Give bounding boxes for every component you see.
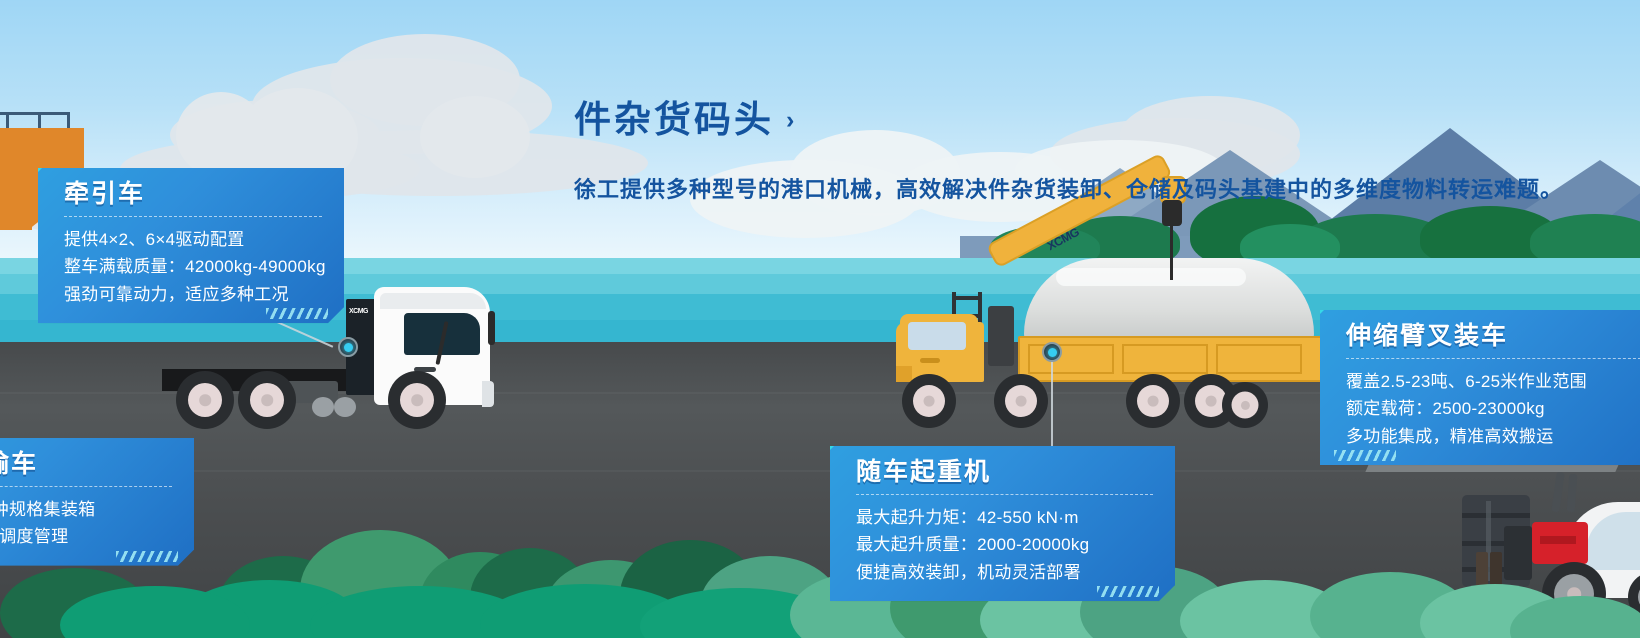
card-stripe-decoration — [1097, 586, 1159, 597]
card-title: 牵引车 — [64, 181, 322, 209]
xcmg-logo-tractor: XCMG — [349, 308, 368, 315]
card-line: 覆盖2.5-23吨、6-25米作业范围 — [1346, 368, 1640, 396]
info-card-telescopic-handler[interactable]: 伸缩臂叉装车 覆盖2.5-23吨、6-25米作业范围 额定载荷：2500-230… — [1320, 310, 1640, 465]
card-stripe-decoration — [1334, 450, 1396, 461]
card-line: 5尺等多种规格集装箱 — [0, 496, 172, 524]
card-divider — [64, 216, 322, 217]
card-line: 最大起升质量：2000-20000kg — [856, 531, 1153, 559]
card-line: 强劲可靠动力，适应多种工况 — [64, 281, 322, 309]
page-title-text: 件杂货码头 — [574, 100, 774, 141]
headline-block: 件杂货码头 › 徐工提供多种型号的港口机械，高效解决件杂货装卸、仓储及码头基建中… — [574, 100, 1563, 209]
connector-line-crane — [1051, 353, 1053, 457]
info-card-tractor[interactable]: 牵引车 提供4×2、6×4驱动配置 整车满载质量：42000kg-49000kg… — [38, 168, 344, 323]
page-title: 件杂货码头 › — [574, 100, 1563, 141]
port-illustration-scene: XCMG XCMG — [0, 0, 1640, 638]
card-divider — [856, 494, 1153, 495]
hotspot-crane[interactable] — [1042, 342, 1062, 362]
chevron-right-icon: › — [786, 107, 797, 135]
card-stripe-decoration — [266, 308, 328, 319]
card-title: 随车起重机 — [856, 459, 1153, 487]
hotspot-tractor[interactable] — [338, 337, 358, 357]
wheel — [238, 371, 296, 429]
page-description: 徐工提供多种型号的港口机械，高效解决件杂货装卸、仓储及码头基建中的多维度物料转运… — [574, 171, 1563, 209]
card-divider — [1346, 358, 1640, 359]
truck-mounted-crane-vehicle: XCMG — [896, 236, 1376, 426]
info-card-truck-mounted-crane[interactable]: 随车起重机 最大起升力矩：42-550 kN·m 最大起升质量：2000-200… — [830, 446, 1175, 601]
card-line: 提供4×2、6×4驱动配置 — [64, 226, 322, 254]
card-stripe-decoration — [116, 551, 178, 562]
card-line: 组作业和调度管理 — [0, 523, 172, 551]
card-title: 伸缩臂叉装车 — [1346, 323, 1640, 351]
card-line: 便捷高效装卸，机动灵活部署 — [856, 559, 1153, 587]
wheel — [902, 374, 956, 428]
cargo-highlight — [1056, 268, 1246, 286]
wheel — [1222, 382, 1268, 428]
cloud-shape — [176, 92, 266, 178]
card-title: 平运输车 — [0, 451, 172, 479]
card-line: 额定载荷：2500-23000kg — [1346, 395, 1640, 423]
wheel — [1126, 374, 1180, 428]
card-line: 最大起升力矩：42-550 kN·m — [856, 504, 1153, 532]
info-card-flat-transport[interactable]: 平运输车 5尺等多种规格集装箱 组作业和调度管理 — [0, 438, 194, 566]
cloud-shape — [420, 96, 530, 178]
card-divider — [0, 486, 172, 487]
card-line: 多功能集成，精准高效搬运 — [1346, 423, 1640, 451]
wheel — [176, 371, 234, 429]
wheel — [388, 371, 446, 429]
wheel — [994, 374, 1048, 428]
card-line: 整车满载质量：42000kg-49000kg — [64, 253, 322, 281]
